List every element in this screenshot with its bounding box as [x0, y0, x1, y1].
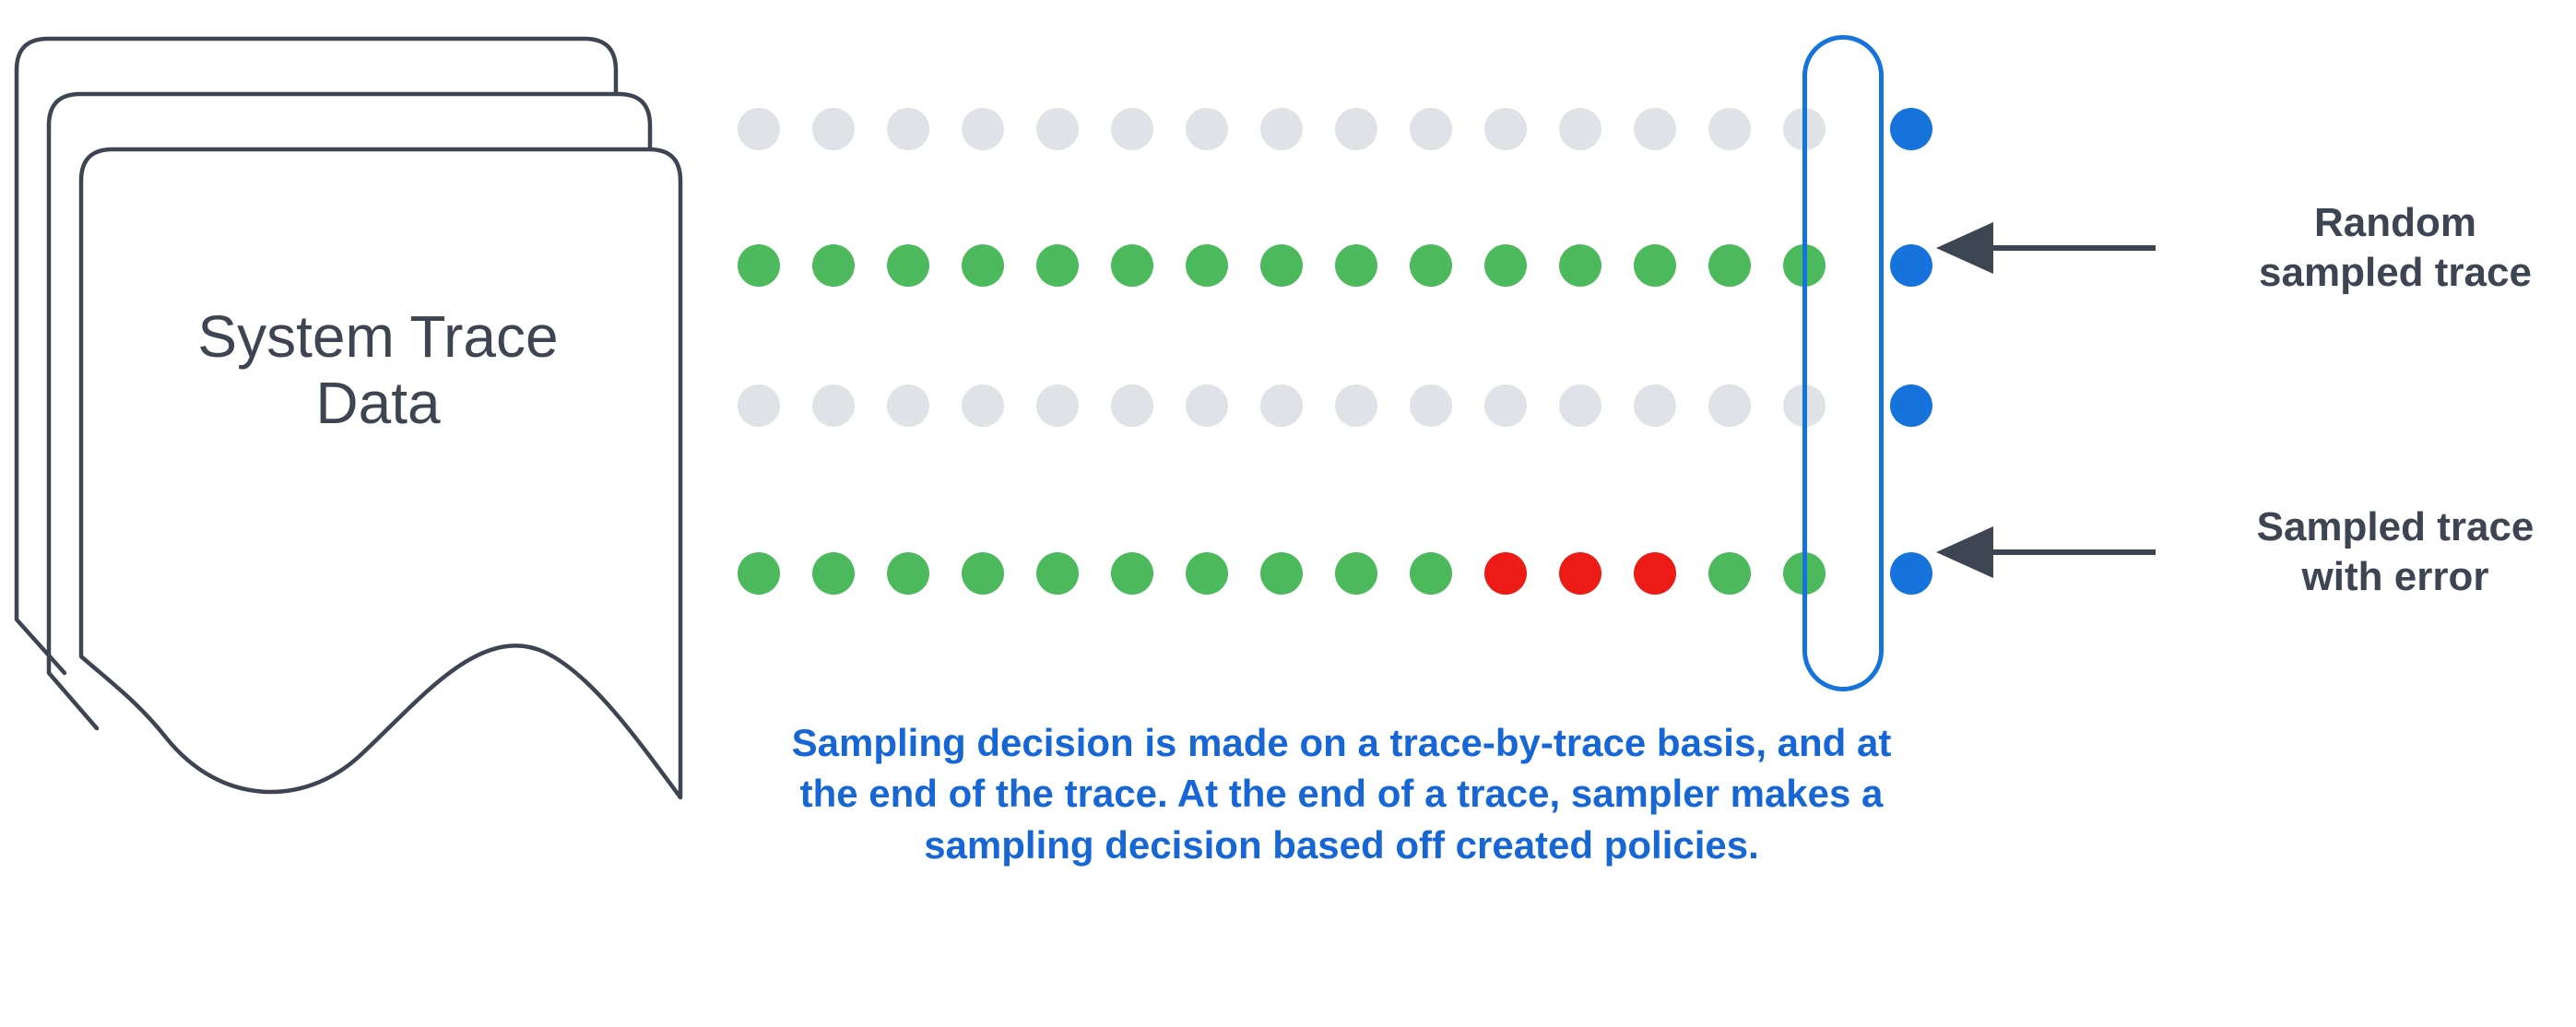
- trace-row-4: [738, 552, 1932, 595]
- trace-span-dot: [1111, 552, 1153, 595]
- trace-span-dot: [1708, 384, 1751, 427]
- trace-span-dot: [1410, 244, 1452, 287]
- trace-span-dot: [812, 244, 855, 287]
- trace-span-dot: [1036, 244, 1079, 287]
- trace-span-dot: [738, 552, 780, 595]
- trace-span-dot: [1111, 244, 1153, 287]
- callout-sampled-trace-with-error-label: Sampled trace with error: [2183, 502, 2576, 602]
- trace-span-dot: [887, 552, 929, 595]
- trace-row-3: [738, 384, 1932, 427]
- sampling-decision-dot: [1890, 384, 1932, 427]
- trace-span-dot: [1559, 244, 1601, 287]
- sampling-decision-dot: [1890, 108, 1932, 150]
- trace-span-dot: [1634, 108, 1676, 150]
- trace-row-1: [738, 108, 1932, 150]
- document-sheet-front: [81, 149, 680, 797]
- sampling-decision-dot: [1890, 552, 1932, 595]
- trace-span-dot: [962, 244, 1004, 287]
- trace-span-dot: [812, 108, 855, 150]
- trace-span-dot: [1708, 108, 1751, 150]
- trace-span-dot: [887, 108, 929, 150]
- trace-span-dot: [1186, 108, 1228, 150]
- trace-span-dot: [1111, 384, 1153, 427]
- trace-row-2: [738, 244, 1932, 287]
- trace-span-dot: [1335, 244, 1377, 287]
- system-trace-data-document-stack: System Trace Data: [0, 0, 728, 830]
- trace-span-dot: [1335, 108, 1377, 150]
- trace-span-dot: [1186, 552, 1228, 595]
- left-arrow-icon: [1936, 515, 2157, 589]
- trace-span-dot: [1335, 552, 1377, 595]
- trace-span-dot: [1559, 108, 1601, 150]
- trace-dot-matrix: [738, 0, 1936, 738]
- document-sheet-back-edge: [17, 70, 65, 673]
- trace-span-dot: [738, 108, 780, 150]
- trace-span-dot: [1559, 384, 1601, 427]
- trace-span-dot: [1186, 384, 1228, 427]
- sampling-decision-caption: Sampling decision is made on a trace-by-…: [765, 717, 1918, 870]
- trace-span-dot: [962, 384, 1004, 427]
- trace-span-dot: [1708, 244, 1751, 287]
- trace-span-dot: [1484, 552, 1527, 595]
- trace-span-dot: [1036, 108, 1079, 150]
- trace-span-dot: [1634, 244, 1676, 287]
- trace-span-dot: [1708, 552, 1751, 595]
- document-stack-label: System Trace Data: [88, 304, 668, 436]
- trace-span-dot: [887, 244, 929, 287]
- trace-span-dot: [1634, 384, 1676, 427]
- trace-span-dot: [1111, 108, 1153, 150]
- trace-span-dot: [812, 384, 855, 427]
- trace-span-dot: [738, 244, 780, 287]
- trace-span-dot: [1484, 384, 1527, 427]
- callout-sampled-trace-with-error: Sampled trace with error: [1936, 502, 2576, 602]
- trace-span-dot: [1410, 552, 1452, 595]
- trace-span-dot: [962, 552, 1004, 595]
- callout-random-sampled-trace: Random sampled trace: [1936, 198, 2576, 298]
- trace-span-dot: [1186, 244, 1228, 287]
- trace-span-dot: [1410, 108, 1452, 150]
- trace-span-dot: [1036, 384, 1079, 427]
- diagram-canvas: System Trace Data Random sampled trace S…: [0, 0, 2576, 1027]
- trace-span-dot: [1634, 552, 1676, 595]
- trace-span-dot: [1260, 244, 1303, 287]
- sampling-decision-dot: [1890, 244, 1932, 287]
- trace-span-dot: [887, 384, 929, 427]
- trace-span-dot: [812, 552, 855, 595]
- trace-span-dot: [1484, 108, 1527, 150]
- sampler-decision-capsule: [1802, 35, 1884, 691]
- trace-span-dot: [738, 384, 780, 427]
- trace-span-dot: [1335, 384, 1377, 427]
- callout-random-sampled-trace-label: Random sampled trace: [2183, 198, 2576, 298]
- trace-span-dot: [1484, 244, 1527, 287]
- trace-span-dot: [1559, 552, 1601, 595]
- trace-span-dot: [1036, 552, 1079, 595]
- left-arrow-icon: [1936, 211, 2157, 285]
- trace-span-dot: [962, 108, 1004, 150]
- trace-span-dot: [1260, 108, 1303, 150]
- trace-span-dot: [1410, 384, 1452, 427]
- trace-span-dot: [1260, 552, 1303, 595]
- trace-span-dot: [1260, 384, 1303, 427]
